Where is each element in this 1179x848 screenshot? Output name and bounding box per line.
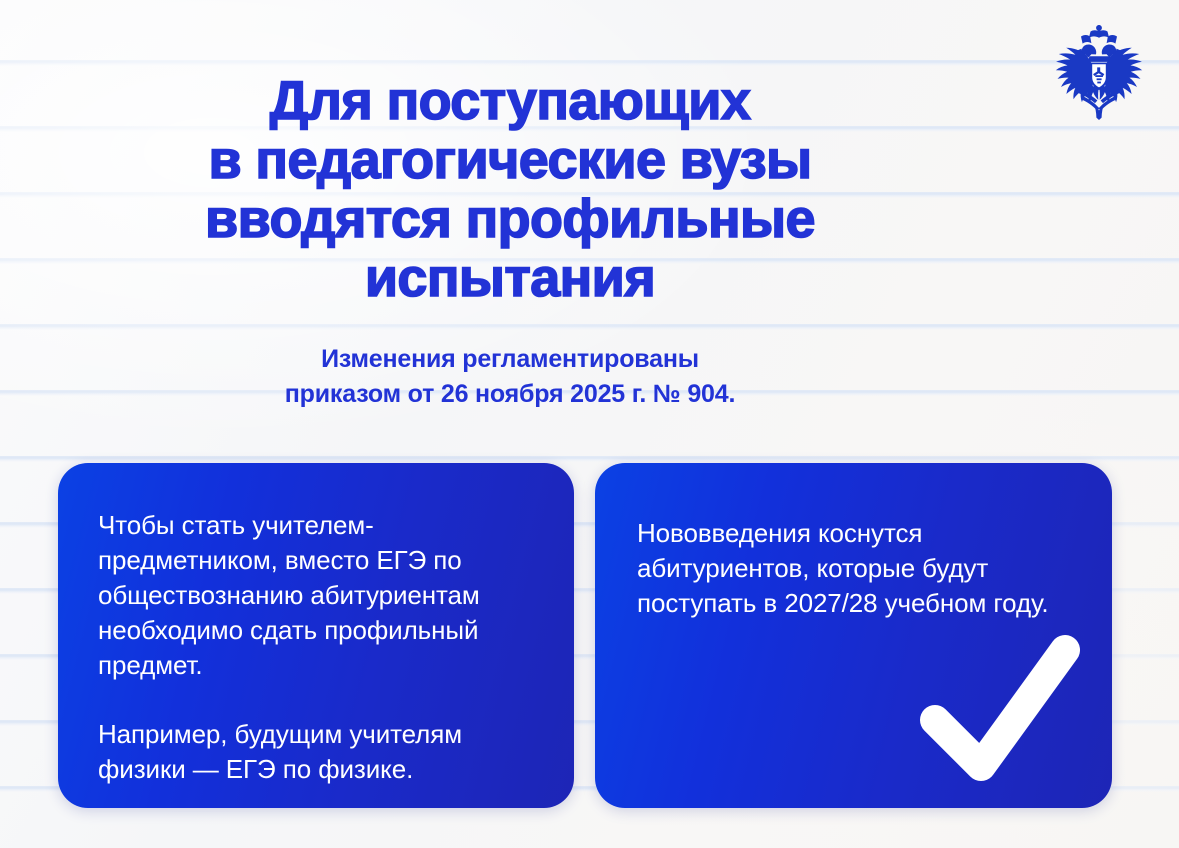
- info-card-left-body: Чтобы стать учителем-предметником, вмест…: [58, 463, 574, 787]
- page-title-line-3: вводятся профильные: [0, 190, 1020, 249]
- info-card-left-paragraph-1: Чтобы стать учителем-предметником, вмест…: [98, 508, 544, 683]
- info-card-right-paragraph-1: Нововведения коснутся абитуриентов, кото…: [637, 516, 1086, 621]
- russian-double-headed-eagle-emblem: [1037, 18, 1161, 122]
- page-title-line-2: в педагогические вузы: [0, 131, 1020, 190]
- page-title: Для поступающих в педагогические вузы вв…: [0, 72, 1020, 308]
- info-card-right-body: Нововведения коснутся абитуриентов, кото…: [595, 463, 1112, 621]
- info-card-left-paragraph-2: Например, будущим учителям физики — ЕГЭ …: [98, 717, 544, 787]
- poster-canvas: Для поступающих в педагогические вузы вв…: [0, 0, 1179, 848]
- page-subtitle-line-1: Изменения регламентированы: [0, 342, 1020, 377]
- page-subtitle: Изменения регламентированы приказом от 2…: [0, 342, 1020, 412]
- info-card-left: Чтобы стать учителем-предметником, вмест…: [58, 463, 574, 808]
- info-card-right: Нововведения коснутся абитуриентов, кото…: [595, 463, 1112, 808]
- checkmark-icon: [907, 614, 1092, 794]
- page-title-line-4: испытания: [0, 249, 1020, 308]
- page-subtitle-line-2: приказом от 26 ноября 2025 г. № 904.: [0, 377, 1020, 412]
- page-title-line-1: Для поступающих: [0, 72, 1020, 131]
